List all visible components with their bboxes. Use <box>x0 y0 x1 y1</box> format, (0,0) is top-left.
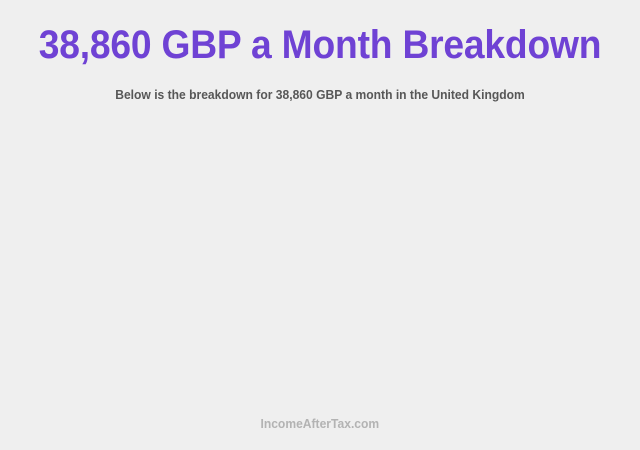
chart-plot-area <box>0 112 640 410</box>
page-root: 38,860 GBP a Month Breakdown Below is th… <box>0 0 640 450</box>
site-footer-label: IncomeAfterTax.com <box>261 415 380 432</box>
page-title: 38,860 GBP a Month Breakdown <box>22 22 617 68</box>
page-subtitle: Below is the breakdown for 38,860 GBP a … <box>22 86 617 103</box>
site-footer: IncomeAfterTax.com <box>0 415 640 433</box>
chart-area <box>0 112 640 410</box>
